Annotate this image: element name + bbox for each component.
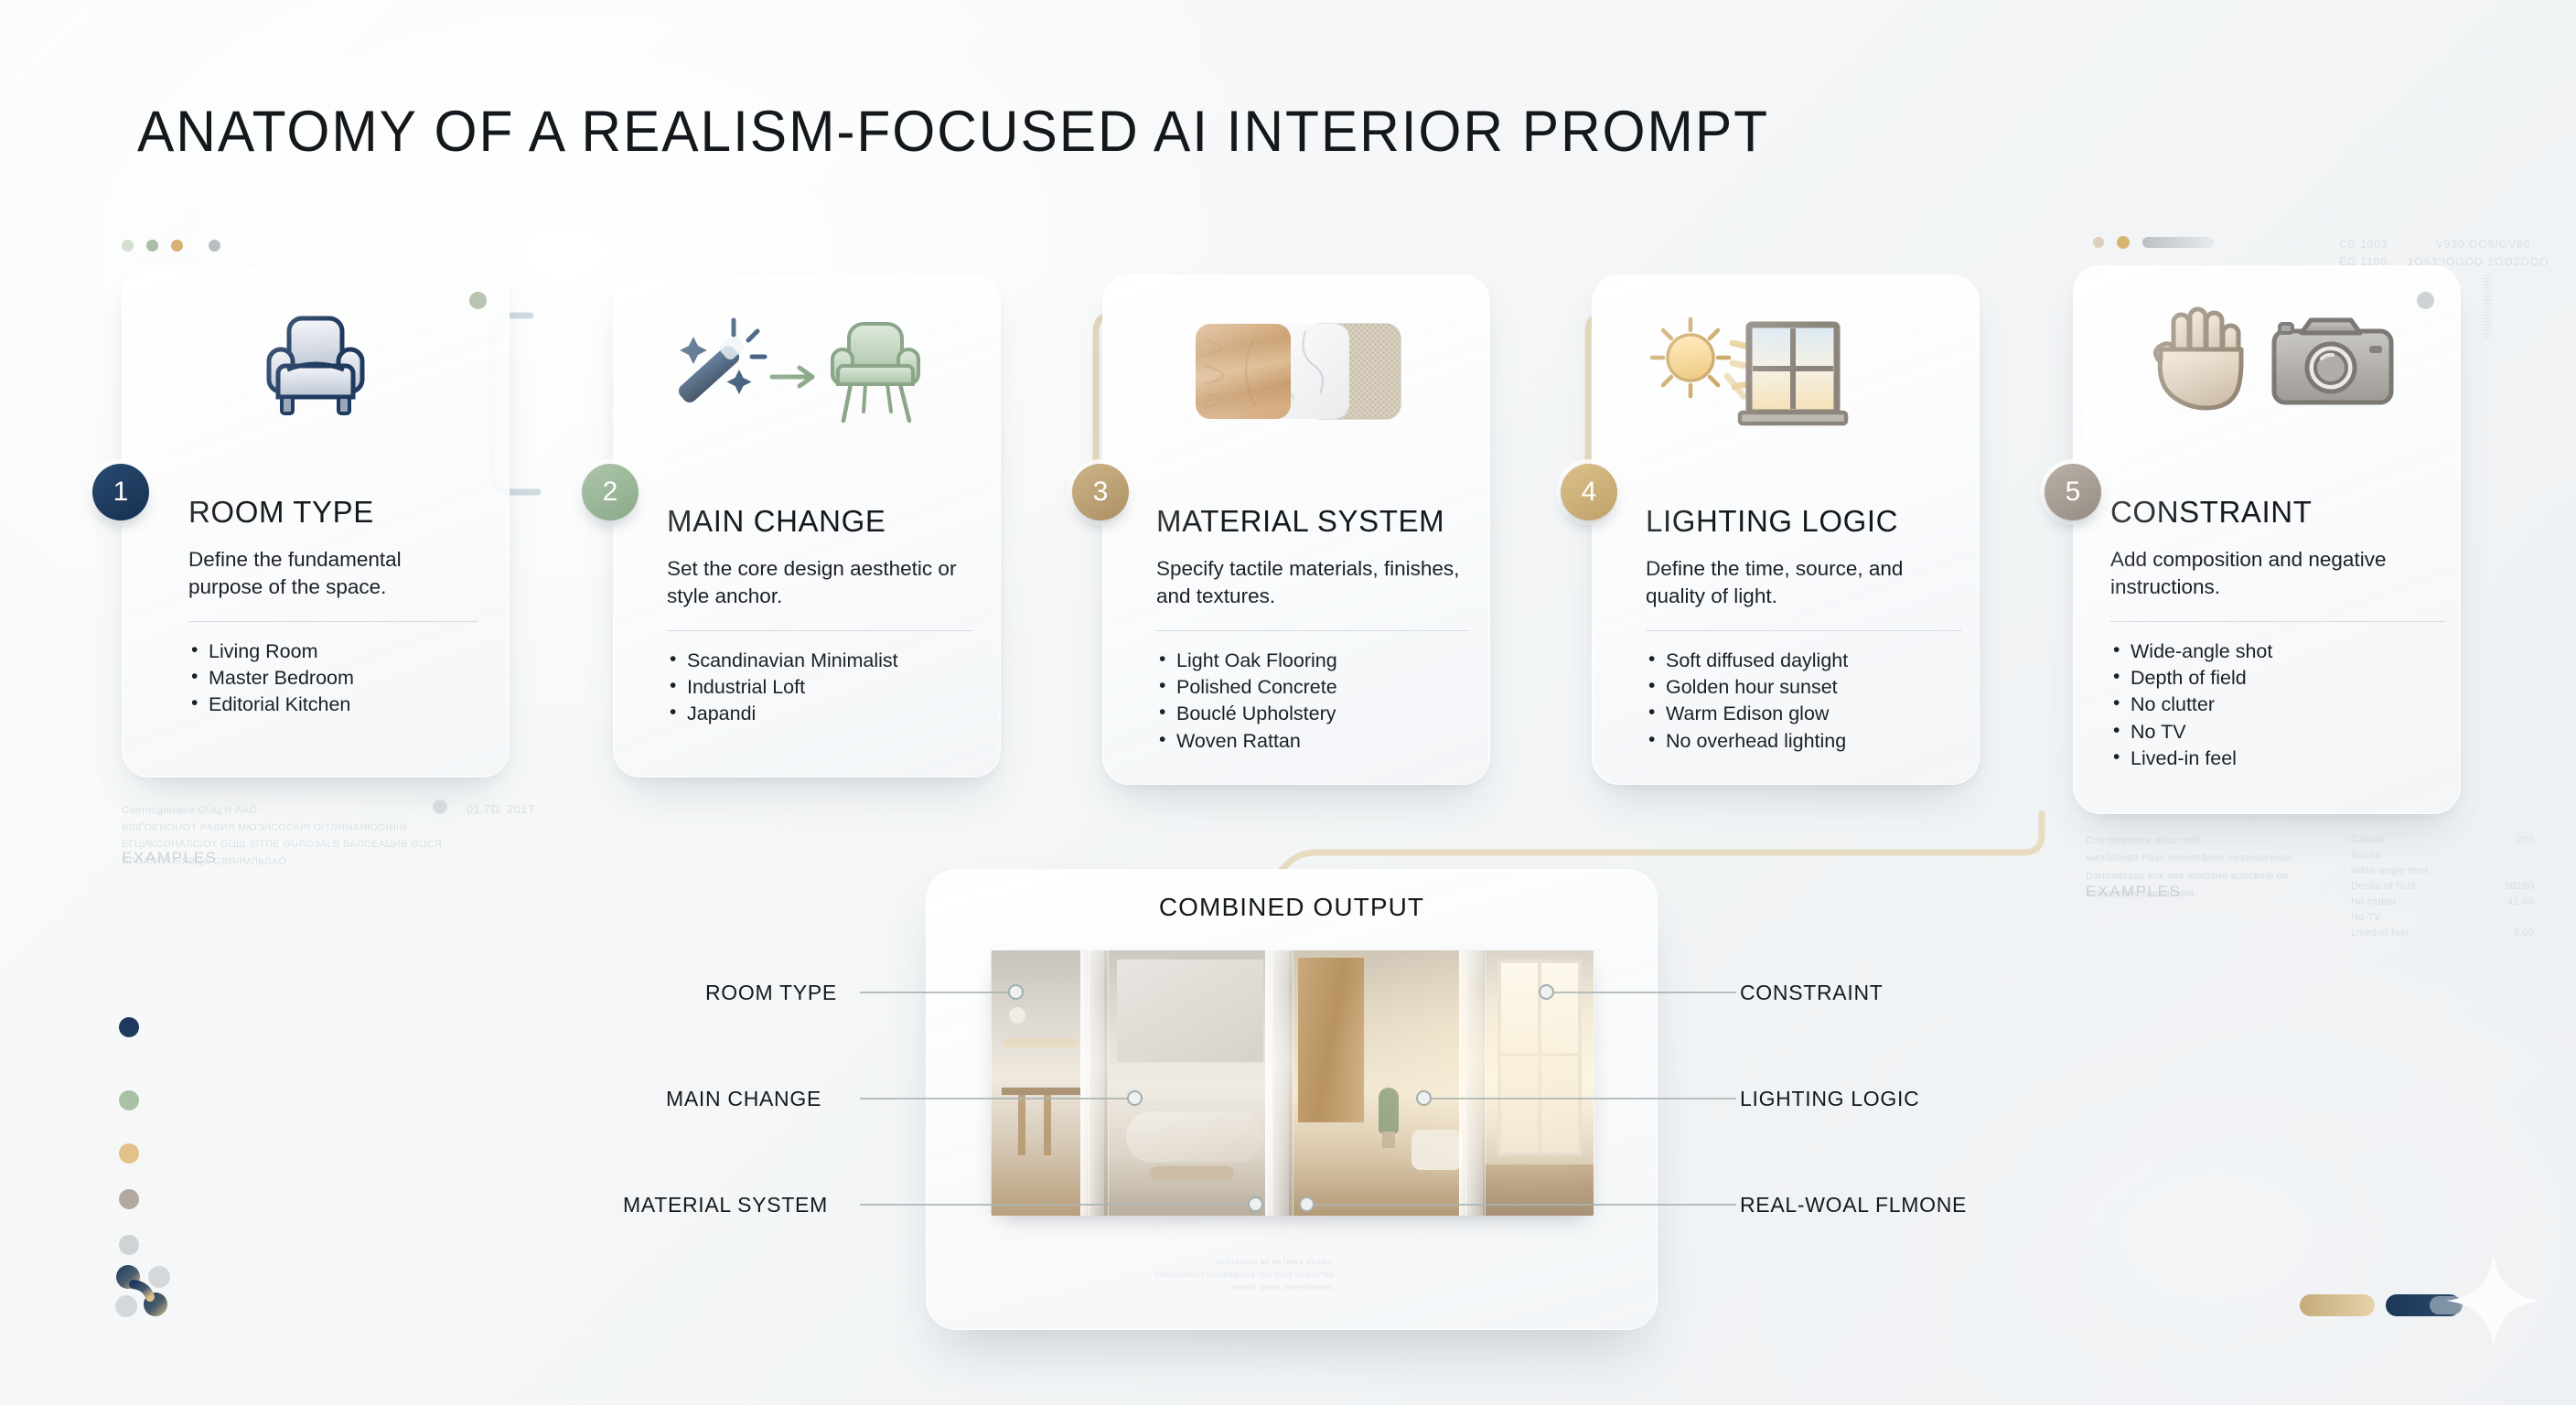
right-watermark-table: Camza 200 Bsbira Wide-angle shot Desita … xyxy=(2351,832,2534,941)
divider xyxy=(1646,630,1962,631)
step-number-4: 4 xyxy=(1561,464,1617,520)
brand-blob-mark xyxy=(113,1264,179,1321)
list-item: Scandinavian Minimalist xyxy=(667,648,972,674)
magic-wand-to-chair-icon xyxy=(614,312,1000,431)
list-item: No overhead lighting xyxy=(1646,728,1962,755)
legend-dot-step-4 xyxy=(119,1189,139,1209)
legend-dot-step-5 xyxy=(119,1235,139,1255)
list-item: Wide-angle shot xyxy=(2110,638,2445,665)
callout-left-1: ROOM TYPE xyxy=(705,981,837,1005)
table-value: 20100 xyxy=(2505,879,2534,895)
sparkle-icon xyxy=(2444,1251,2543,1355)
card-constraint[interactable]: CONSTRAINT Add composition and negative … xyxy=(2073,265,2461,814)
sun-through-window-icon xyxy=(1593,310,1979,433)
combined-output-panel[interactable]: COMBINED OUTPUT xyxy=(926,869,1658,1330)
table-key: Lived-in feel xyxy=(2351,926,2409,941)
table-key: Wide-angle shot xyxy=(2351,863,2428,879)
step-number-1: 1 xyxy=(92,464,149,520)
list-item: Editorial Kitchen xyxy=(188,692,478,718)
combined-render-image xyxy=(991,950,1594,1216)
card-title: ROOM TYPE xyxy=(188,495,478,530)
card-example-list: Light Oak Flooring Polished Concrete Bou… xyxy=(1156,648,1469,755)
callout-line xyxy=(1431,1098,1736,1099)
callout-line xyxy=(860,1098,1132,1099)
legend-dot-step-1 xyxy=(119,1017,139,1037)
callout-left-2: MAIN CHANGE xyxy=(666,1087,821,1111)
card-main-change[interactable]: MAIN CHANGE Set the core design aestheti… xyxy=(613,274,1001,778)
combined-ghost-caption: wuxтопиги ау не7вигв ирнап, comonoiiouт … xyxy=(1155,1256,1333,1294)
window-dots-right xyxy=(2093,236,2214,249)
divider xyxy=(2110,621,2445,622)
card-room-type[interactable]: ROOM TYPE Define the fundamental purpose… xyxy=(122,265,510,778)
card-title: CONSTRAINT xyxy=(2110,495,2445,530)
material-swatches-icon xyxy=(1103,310,1489,433)
card-lighting-logic[interactable]: LIGHTING LOGIC Define the time, source, … xyxy=(1592,274,1980,785)
list-item: No TV xyxy=(2110,719,2445,745)
step-number-5: 5 xyxy=(2045,464,2101,520)
callout-line xyxy=(860,1204,1253,1206)
card-description: Specify tactile materials, finishes, and… xyxy=(1156,555,1469,610)
step-number-2: 2 xyxy=(582,464,639,520)
accent-pill-gold xyxy=(2300,1294,2375,1316)
infographic-canvas: ANATOMY OF A REALISM-FOCUSED AI INTERIOR… xyxy=(0,0,2576,1405)
list-item: Industrial Loft xyxy=(667,674,972,701)
card-example-list: Living Room Master Bedroom Editorial Kit… xyxy=(188,638,478,719)
left-watermark-label: EXAMPLES xyxy=(122,846,217,870)
callout-dot-icon xyxy=(1127,1090,1143,1106)
card-example-list: Soft diffused daylight Golden hour sunse… xyxy=(1646,648,1962,755)
table-key: Bsbira xyxy=(2351,848,2381,863)
callout-dot-icon xyxy=(1008,984,1024,1000)
table-key: No clutter xyxy=(2351,895,2397,910)
card-description: Set the core design aesthetic or style a… xyxy=(667,555,972,610)
card-material-system[interactable]: MATERIAL SYSTEM Specify tactile material… xyxy=(1102,274,1490,785)
table-value: 41.00 xyxy=(2507,895,2534,910)
combined-output-title: COMBINED OUTPUT xyxy=(927,893,1657,922)
list-item: No clutter xyxy=(2110,692,2445,718)
list-item: Warm Edison glow xyxy=(1646,701,1962,727)
callout-right-2: LIGHTING LOGIC xyxy=(1740,1087,1919,1111)
list-item: Soft diffused daylight xyxy=(1646,648,1962,674)
table-key: Camza xyxy=(2351,832,2384,848)
watermark-dot-icon xyxy=(433,799,447,814)
window-dot-3 xyxy=(171,240,183,252)
window-progress-bar xyxy=(2142,237,2214,248)
card-title: MAIN CHANGE xyxy=(667,504,972,539)
page-title: ANATOMY OF A REALISM-FOCUSED AI INTERIOR… xyxy=(137,99,1769,165)
callout-left-3: MATERIAL SYSTEM xyxy=(623,1193,828,1217)
left-watermark-meta: 01.7Ω. 201Т xyxy=(467,800,535,819)
window-dot-2 xyxy=(146,240,158,252)
card-example-list: Scandinavian Minimalist Industrial Loft … xyxy=(667,648,972,728)
card-description: Define the time, source, and quality of … xyxy=(1646,555,1962,610)
card-example-list: Wide-angle shot Depth of field No clutte… xyxy=(2110,638,2445,772)
callout-dot-icon xyxy=(1299,1196,1315,1212)
callout-line xyxy=(1553,992,1736,993)
list-item: Depth of field xyxy=(2110,665,2445,692)
table-value: 3.00 xyxy=(2513,926,2534,941)
callout-line xyxy=(1314,1204,1736,1206)
divider xyxy=(188,621,478,622)
list-item: Light Oak Flooring xyxy=(1156,648,1469,674)
card-description: Add composition and negative instruction… xyxy=(2110,546,2445,601)
stop-hand-camera-icon xyxy=(2074,303,2460,425)
window-dot-4 xyxy=(209,240,220,252)
card-description: Define the fundamental purpose of the sp… xyxy=(188,546,478,601)
callout-dot-icon xyxy=(1248,1196,1263,1212)
step-number-3: 3 xyxy=(1072,464,1129,520)
callout-dot-icon xyxy=(1416,1090,1432,1106)
list-item: Master Bedroom xyxy=(188,665,478,692)
table-key: No TV xyxy=(2351,910,2380,926)
card-title: LIGHTING LOGIC xyxy=(1646,504,1962,539)
window-dot-5 xyxy=(2093,237,2104,248)
divider xyxy=(1156,630,1469,631)
callout-right-1: CONSTRAINT xyxy=(1740,981,1884,1005)
callout-dot-icon xyxy=(1539,984,1554,1000)
armchair-icon xyxy=(123,305,509,424)
list-item: Living Room xyxy=(188,638,478,665)
window-dot-1 xyxy=(122,240,134,252)
legend-dot-step-3 xyxy=(119,1143,139,1164)
list-item: Golden hour sunset xyxy=(1646,674,1962,701)
card-title: MATERIAL SYSTEM xyxy=(1156,504,1469,539)
callout-line xyxy=(860,992,1020,993)
legend-dot-step-2 xyxy=(119,1090,139,1110)
window-dots-left xyxy=(122,240,220,252)
list-item: Bouclé Upholstery xyxy=(1156,701,1469,727)
list-item: Lived-in feel xyxy=(2110,745,2445,772)
right-watermark-label: EXAMPLES xyxy=(2086,880,2181,904)
list-item: Polished Concrete xyxy=(1156,674,1469,701)
callout-right-3: REAL-WOAL FLMONE xyxy=(1740,1193,1967,1217)
list-item: Japandi xyxy=(667,701,972,727)
list-item: Woven Rattan xyxy=(1156,728,1469,755)
right-edge-ruler-text: ||||||||||||||||||||| xyxy=(2481,274,2494,412)
divider xyxy=(667,630,972,631)
table-value: 200 xyxy=(2517,832,2534,848)
window-dot-6 xyxy=(2117,236,2130,249)
table-key: Desita of ficid xyxy=(2351,879,2416,895)
